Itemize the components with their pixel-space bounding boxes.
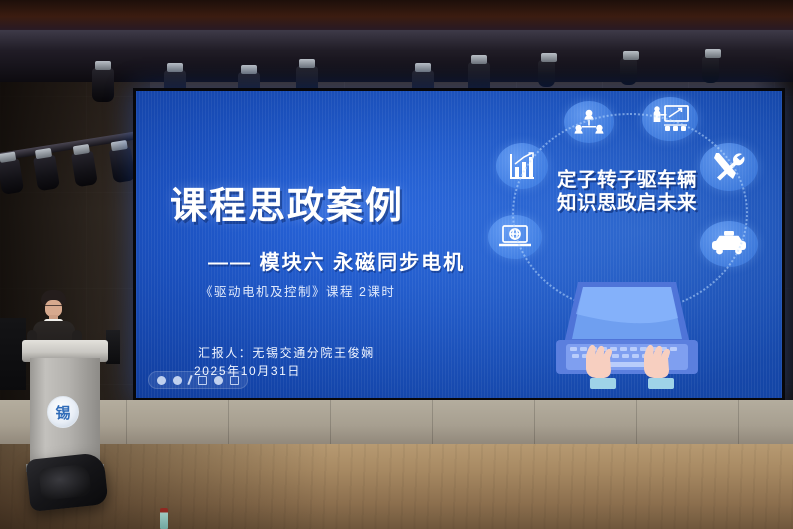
lighting-truss [0,30,793,82]
stage-floor-speaker [25,452,108,512]
school-emblem-icon: 锡 [47,396,79,428]
more-options-button[interactable] [230,376,239,385]
stage-floor [0,444,793,529]
stage-light-icon [702,56,719,83]
slide-headline-line2: 知识思政启未来 [522,192,732,215]
stage-light-icon [620,58,637,85]
water-bottle [160,508,168,529]
podium: 锡 [22,340,108,472]
slide-headline: 定子转子驱车辆 知识思政启未来 [522,169,732,215]
led-screen[interactable]: 课程思政案例 —— 模块六 永磁同步电机 《驱动电机及控制》课程 2课时 汇报人… [133,88,785,401]
stage-light-icon [538,60,555,87]
next-slide-button[interactable] [173,376,182,385]
slide-course-line: 《驱动电机及控制》课程 2课时 [200,281,506,300]
auditorium-scene: 课程思政案例 —— 模块六 永磁同步电机 《驱动电机及控制》课程 2课时 汇报人… [0,0,793,529]
slide-title: 课程思政案例 [170,175,506,229]
laptop-typing-hands-illustration [552,278,702,396]
confidence-monitor [106,330,120,364]
slide-module-line: —— 模块六 永磁同步电机 [208,246,506,275]
slide-grid-button[interactable] [198,376,207,385]
zoom-button[interactable] [214,376,223,385]
previous-slide-button[interactable] [157,376,166,385]
glasses-icon [45,305,62,309]
slide-text-column: 课程思政案例 —— 模块六 永磁同步电机 《驱动电机及控制》课程 2课时 汇报人… [146,101,506,379]
pen-annotation-button[interactable] [187,375,192,385]
ppt-presentation-toolbar[interactable] [148,371,248,389]
slide-canvas[interactable]: 课程思政案例 —— 模块六 永磁同步电机 《驱动电机及控制》课程 2课时 汇报人… [136,91,782,398]
slide-headline-line1: 定子转子驱车辆 [522,169,732,192]
slide-presenter-line: 汇报人：无锡交通分院王俊娴 [198,344,506,361]
slide-graphic-column: 定子转子驱车辆 知识思政启未来 [478,91,778,398]
stage-front-wall [0,400,793,446]
